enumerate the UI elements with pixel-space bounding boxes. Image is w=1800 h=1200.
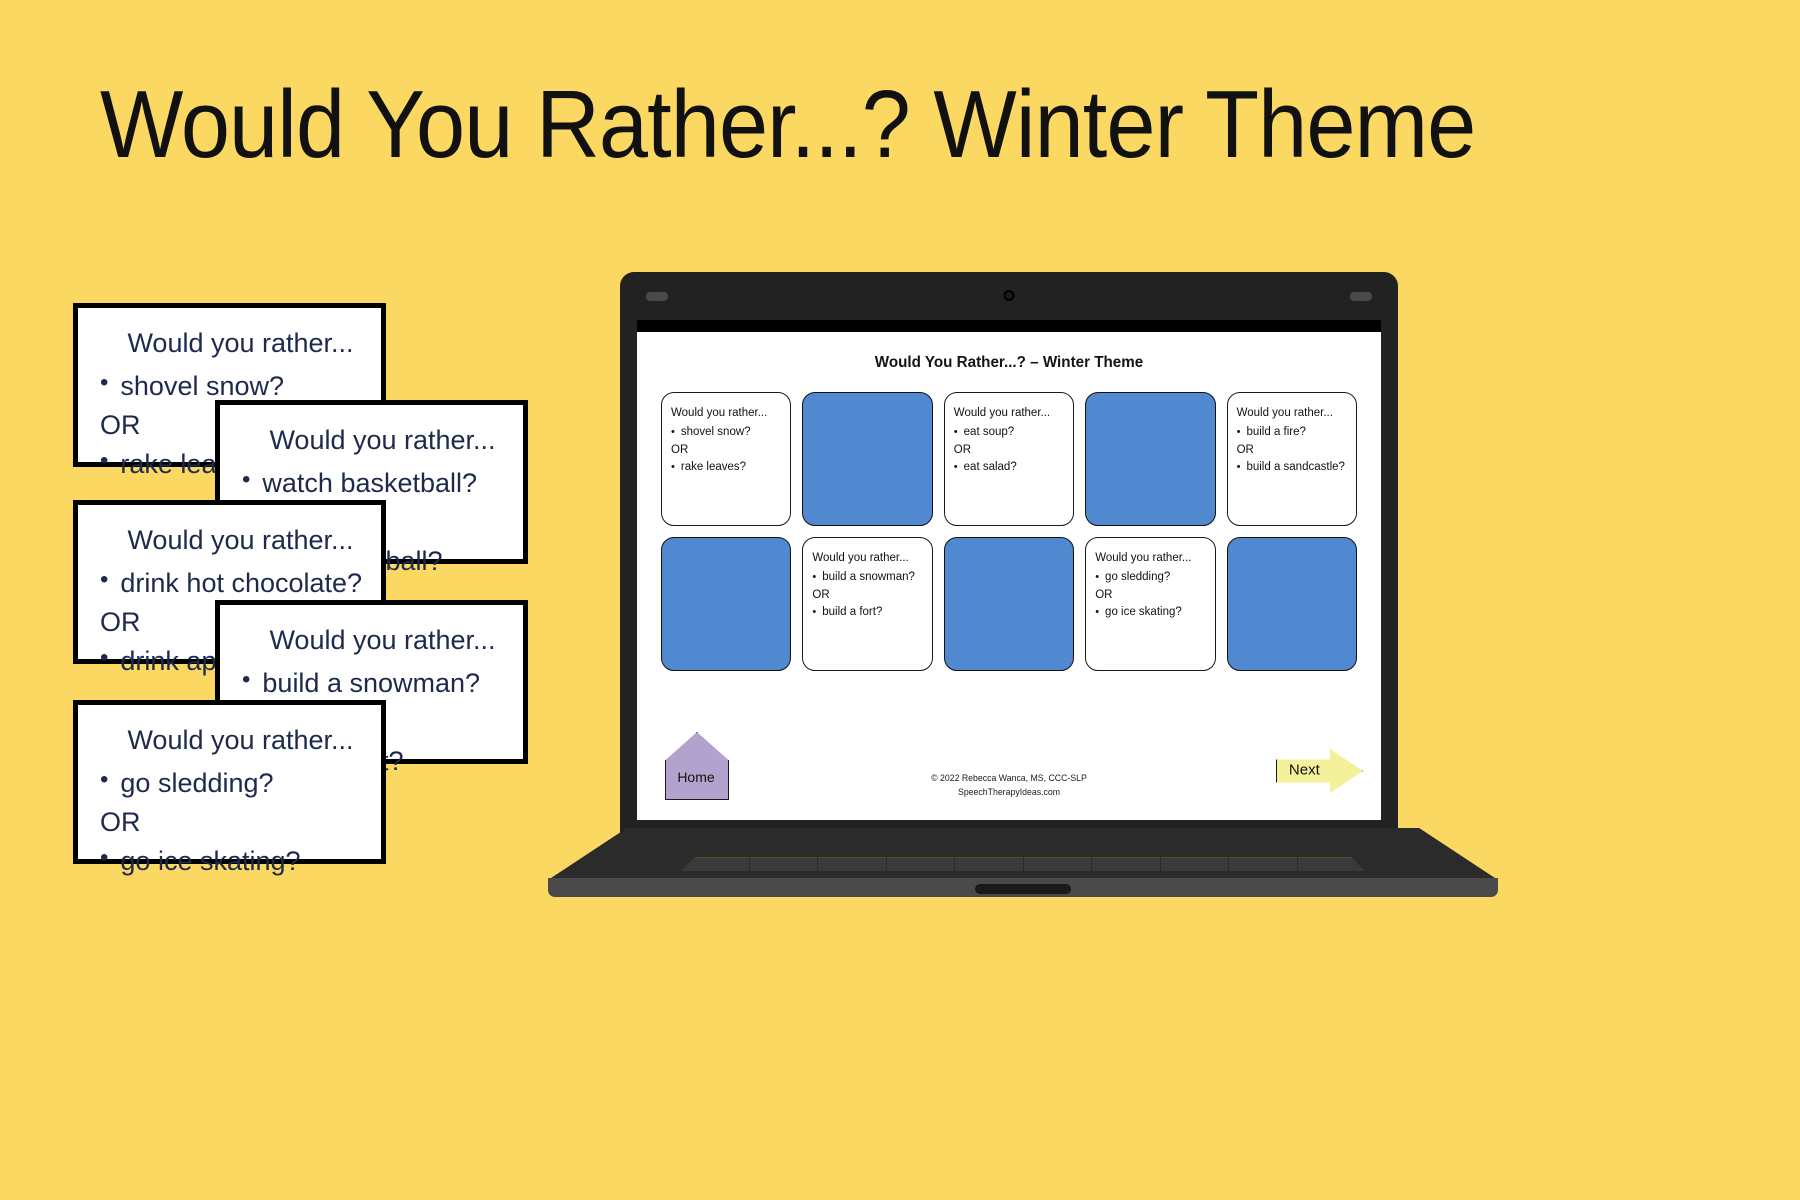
bullet-icon: • — [100, 844, 108, 872]
tile-option-a: • shovel snow? — [671, 424, 782, 441]
tile-option-a: • eat soup? — [954, 424, 1065, 441]
laptop-notch-icon — [975, 884, 1071, 894]
tile-option-a: • build a fire? — [1237, 424, 1348, 441]
tile-header: Would you rather... — [1237, 405, 1348, 421]
copyright: © 2022 Rebecca Wanca, MS, CCC-SLP Speech… — [667, 772, 1351, 800]
bullet-icon: • — [100, 447, 108, 475]
card-header: Would you rather... — [242, 623, 505, 658]
copyright-line-1: © 2022 Rebecca Wanca, MS, CCC-SLP — [667, 772, 1351, 786]
bullet-icon: • — [954, 459, 958, 476]
option-b-text: build a sandcastle? — [1246, 459, 1344, 475]
option-b-text: go ice skating? — [120, 844, 300, 879]
option-a-text: build a fire? — [1246, 424, 1305, 440]
bullet-icon: • — [1095, 604, 1099, 621]
option-a-text: watch basketball? — [262, 466, 477, 501]
bezel-tab-left-icon — [646, 292, 668, 301]
laptop-mockup: Would You Rather...? – Winter Theme Woul… — [548, 272, 1498, 897]
tile-or: OR — [1237, 442, 1348, 458]
slide: Would You Rather...? – Winter Theme Woul… — [637, 332, 1381, 820]
tile-blank[interactable] — [661, 537, 791, 671]
tile-or: OR — [812, 587, 923, 603]
card-header: Would you rather... — [100, 523, 363, 558]
laptop-screen: Would You Rather...? – Winter Theme Woul… — [637, 320, 1381, 820]
card-header: Would you rather... — [100, 326, 363, 361]
card-option-a: • watch basketball? — [242, 466, 505, 501]
tile-blank[interactable] — [944, 537, 1074, 671]
option-a-text: shovel snow? — [681, 424, 751, 440]
bullet-icon: • — [671, 459, 675, 476]
tile-header: Would you rather... — [1095, 550, 1206, 566]
tile-question[interactable]: Would you rather... • go sledding? OR • … — [1085, 537, 1215, 671]
screen-top-bar — [637, 320, 1381, 332]
next-button[interactable]: Next — [1276, 748, 1361, 792]
option-a-text: build a snowman? — [822, 569, 915, 585]
option-b-text: eat salad? — [964, 459, 1017, 475]
tile-header: Would you rather... — [671, 405, 782, 421]
tile-blank[interactable] — [1085, 392, 1215, 526]
card-option-a: • build a snowman? — [242, 666, 505, 701]
slide-title: Would You Rather...? – Winter Theme — [656, 354, 1363, 372]
tile-option-b: • build a fort? — [812, 604, 923, 621]
tile-or: OR — [671, 442, 782, 458]
option-a-text: eat soup? — [964, 424, 1015, 440]
card-option-a: • shovel snow? — [100, 369, 363, 404]
option-a-text: build a snowman? — [262, 666, 480, 701]
tile-header: Would you rather... — [812, 550, 923, 566]
bullet-icon: • — [812, 569, 816, 586]
bullet-icon: • — [100, 766, 108, 794]
tile-question[interactable]: Would you rather... • build a snowman? O… — [802, 537, 932, 671]
option-a-text: go sledding? — [120, 766, 273, 801]
tile-or: OR — [1095, 587, 1206, 603]
camera-icon — [1004, 290, 1015, 301]
card-or: OR — [100, 805, 363, 840]
tile-blank[interactable] — [1227, 537, 1357, 671]
bullet-icon: • — [671, 424, 675, 441]
tile-grid: Would you rather... • shovel snow? OR • … — [661, 392, 1357, 671]
laptop-base — [548, 828, 1498, 897]
bullet-icon: • — [954, 424, 958, 441]
bullet-icon: • — [100, 369, 108, 397]
bullet-icon: • — [100, 566, 108, 594]
option-a-text: drink hot chocolate? — [120, 566, 362, 601]
tile-blank[interactable] — [802, 392, 932, 526]
keyboard-icon — [681, 857, 1365, 871]
next-button-label: Next — [1278, 762, 1331, 779]
option-b-text: build a fort? — [822, 604, 882, 620]
option-a-text: shovel snow? — [120, 369, 284, 404]
bullet-icon: • — [242, 666, 250, 694]
tile-question[interactable]: Would you rather... • eat soup? OR • eat… — [944, 392, 1074, 526]
option-b-text: go ice skating? — [1105, 604, 1182, 620]
card-option-a: • drink hot chocolate? — [100, 566, 363, 601]
laptop-deck — [548, 828, 1498, 880]
bullet-icon: • — [1237, 424, 1241, 441]
tile-option-a: • go sledding? — [1095, 569, 1206, 586]
tile-option-b: • rake leaves? — [671, 459, 782, 476]
tile-question[interactable]: Would you rather... • build a fire? OR •… — [1227, 392, 1357, 526]
tile-option-b: • go ice skating? — [1095, 604, 1206, 621]
laptop-lid: Would You Rather...? – Winter Theme Woul… — [620, 272, 1398, 842]
option-a-text: go sledding? — [1105, 569, 1170, 585]
stacked-card: Would you rather... • go sledding? OR • … — [73, 700, 386, 864]
bullet-icon: • — [1237, 459, 1241, 476]
tile-option-b: • build a sandcastle? — [1237, 459, 1348, 476]
bullet-icon: • — [812, 604, 816, 621]
option-b-text: rake leaves? — [681, 459, 746, 475]
card-header: Would you rather... — [100, 723, 363, 758]
bezel-tab-right-icon — [1350, 292, 1372, 301]
card-header: Would you rather... — [242, 423, 505, 458]
stacked-cards-group: Would you rather... • shovel snow? OR • … — [0, 0, 620, 900]
bullet-icon: • — [100, 644, 108, 672]
tile-or: OR — [954, 442, 1065, 458]
card-option-a: • go sledding? — [100, 766, 363, 801]
card-option-b: • go ice skating? — [100, 844, 363, 879]
tile-option-b: • eat salad? — [954, 459, 1065, 476]
copyright-line-2: SpeechTherapyIdeas.com — [667, 786, 1351, 800]
bullet-icon: • — [1095, 569, 1099, 586]
tile-option-a: • build a snowman? — [812, 569, 923, 586]
tile-header: Would you rather... — [954, 405, 1065, 421]
tile-question[interactable]: Would you rather... • shovel snow? OR • … — [661, 392, 791, 526]
bullet-icon: • — [242, 466, 250, 494]
